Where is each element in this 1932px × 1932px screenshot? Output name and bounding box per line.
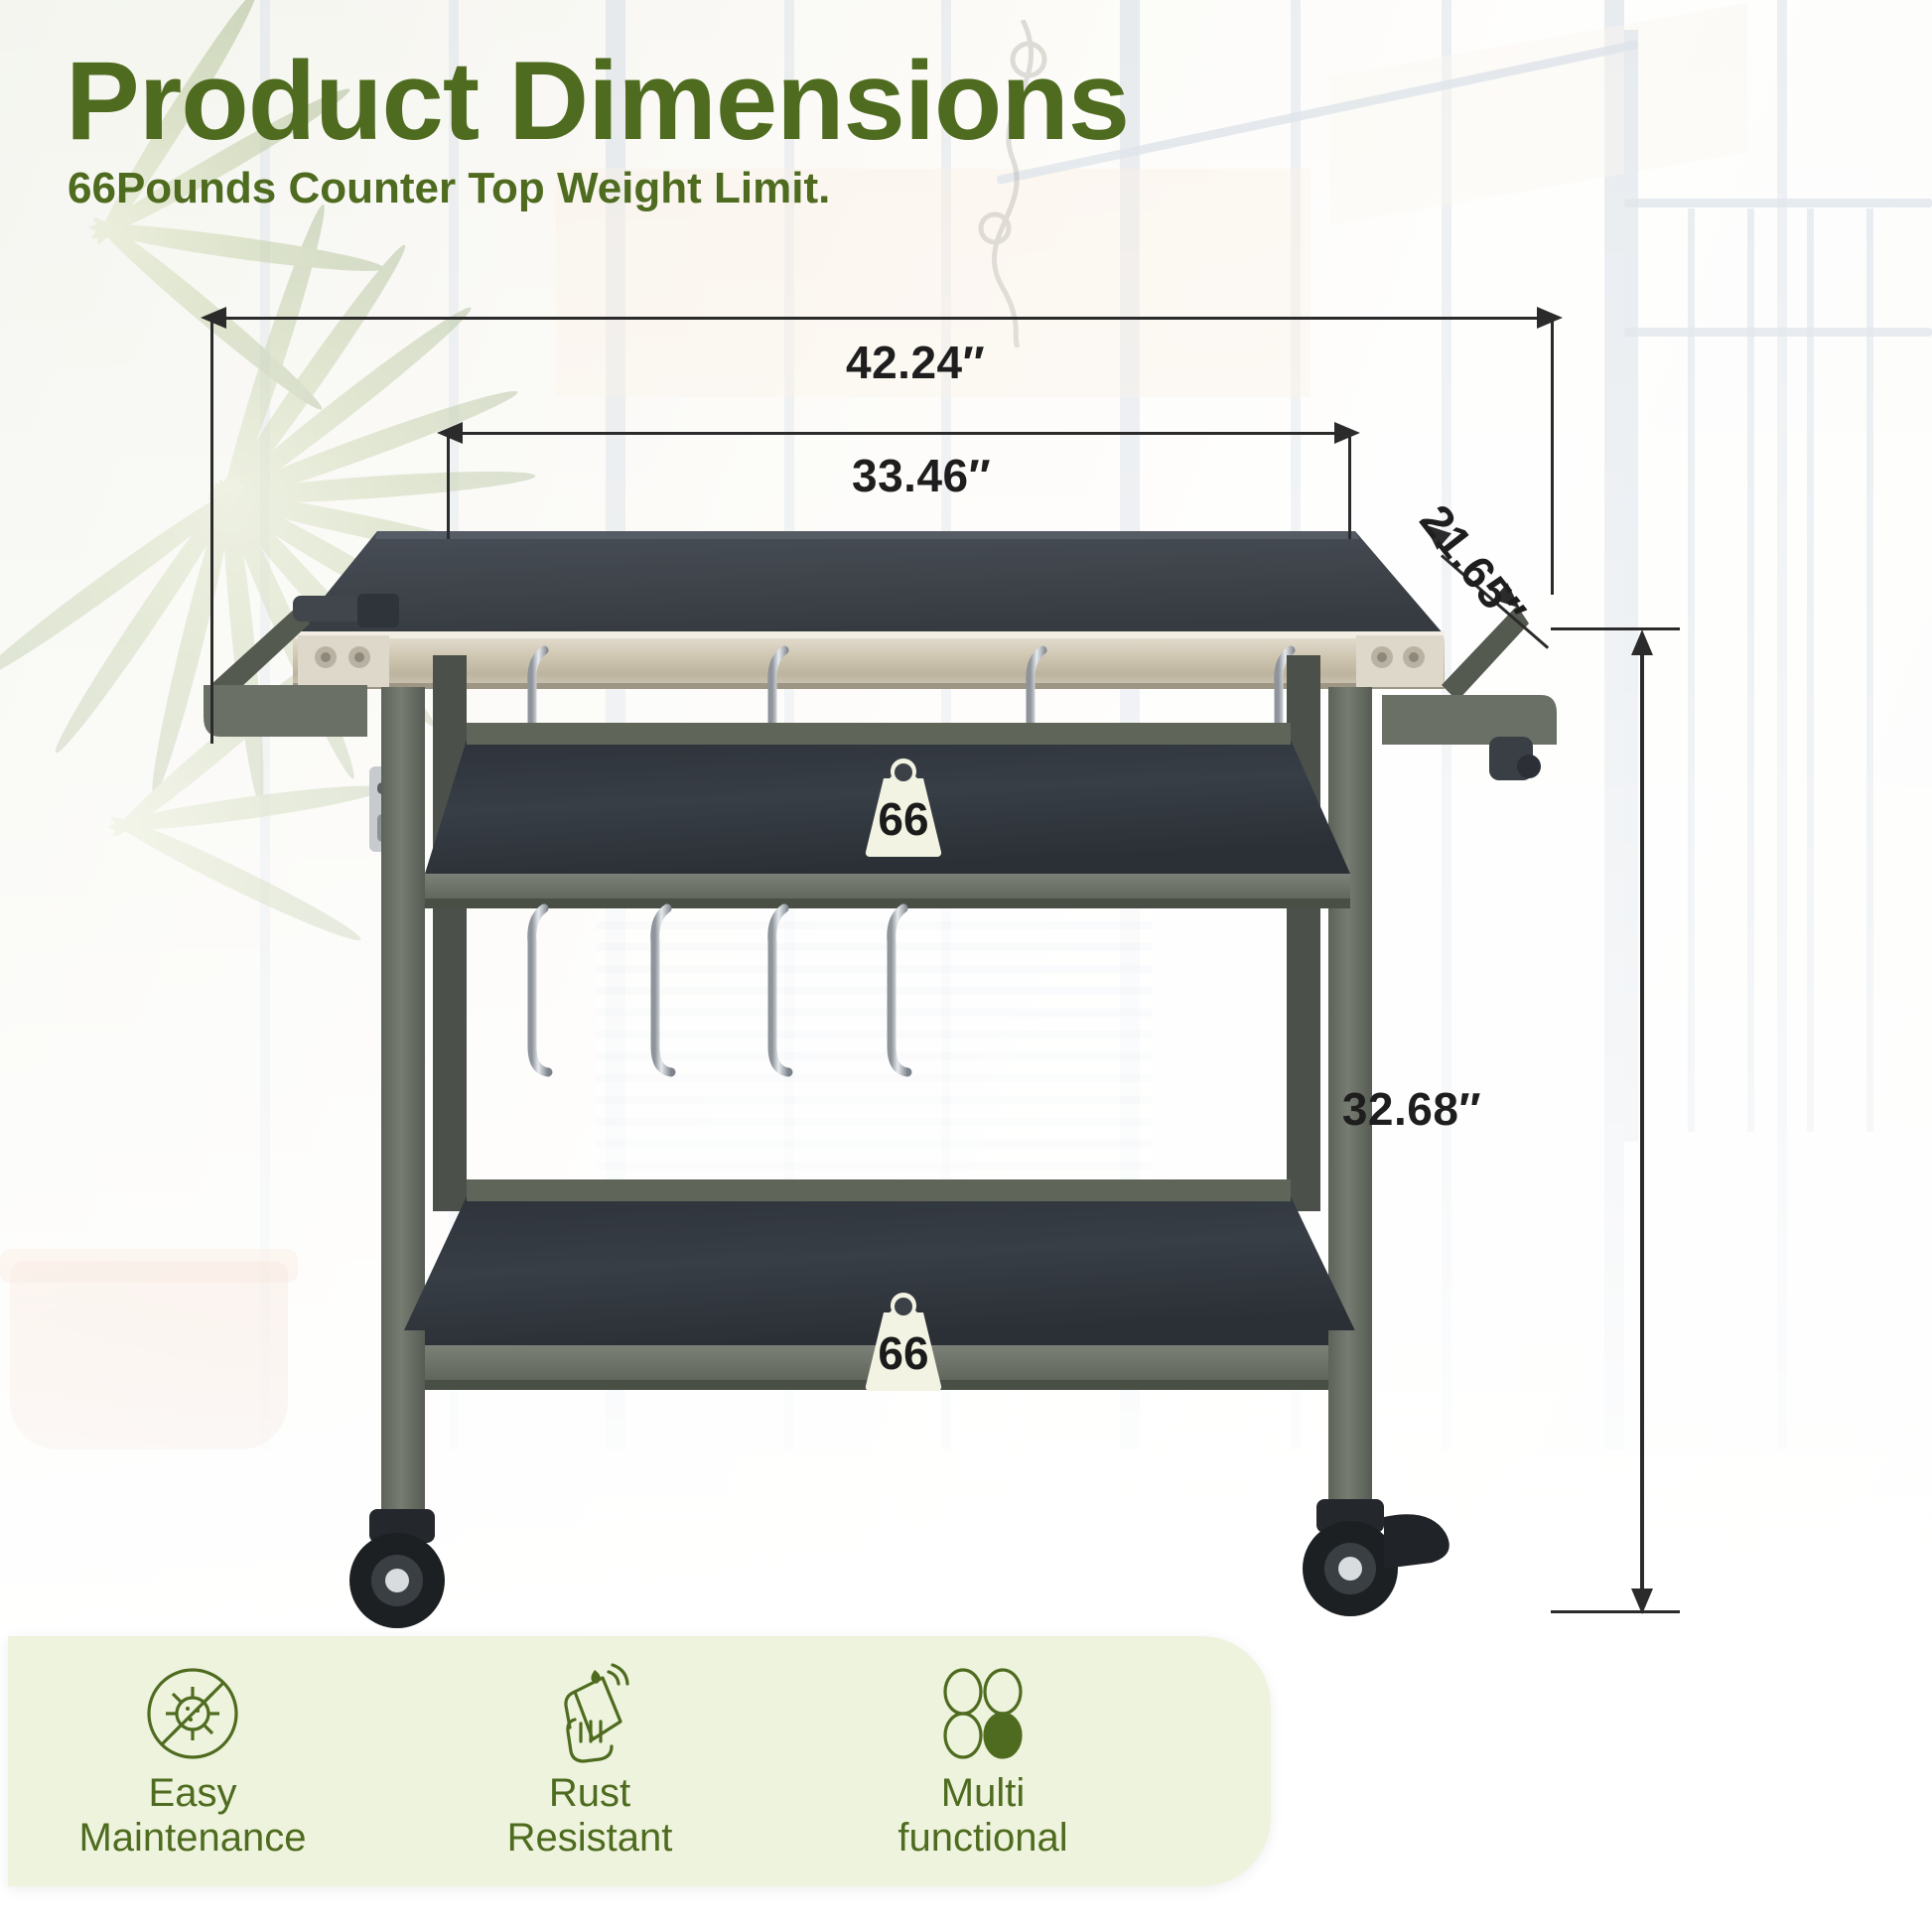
feature-label-line1: Multi [814,1771,1152,1816]
feature-label-line2: functional [814,1816,1152,1861]
feature-label-line2: Resistant [421,1816,759,1861]
weight-badge-value: 66 [856,792,951,846]
feature-label-line2: Maintenance [24,1816,361,1861]
feature-multi-functional: Multi functional [814,1662,1152,1861]
feature-rust-resistant: Rust Resistant [421,1662,759,1861]
s-hook-row-lower [532,908,907,1072]
feature-easy-maintenance: Easy Maintenance [24,1662,361,1861]
germ-blocked-icon [24,1662,361,1765]
weight-badge-value: 66 [856,1326,951,1380]
four-dots-icon [814,1662,1152,1765]
dimension-label-tabletop-width: 33.46″ [852,449,991,502]
feature-label-line1: Rust [421,1771,759,1816]
feature-highlights-bar: Easy Maintenance Rust Resistant [8,1636,1271,1886]
weight-badge-bottom-shelf: 66 [856,1281,951,1392]
dimension-label-overall-width: 42.24″ [846,336,985,389]
hand-wipe-water-icon [421,1662,759,1765]
caster-wheel-left [349,1509,445,1628]
caster-wheel-right [1303,1499,1449,1616]
dimension-label-height: 32.68″ [1342,1082,1481,1136]
weight-badge-middle-shelf: 66 [856,747,951,858]
feature-label-line1: Easy [24,1771,361,1816]
infographic-canvas: Product Dimensions 66Pounds Counter Top … [0,0,1932,1932]
cart-tabletop [293,531,1445,635]
